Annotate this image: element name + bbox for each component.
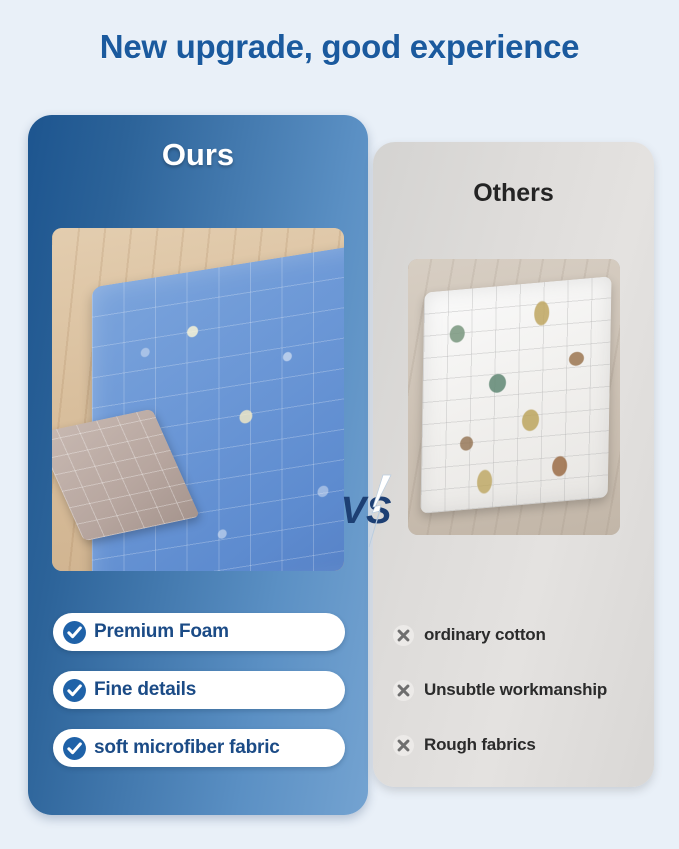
drawback-label: Unsubtle workmanship (424, 680, 607, 700)
drawback-item[interactable]: Rough fabrics (392, 730, 654, 760)
others-card: Others ordinary cotton (373, 142, 654, 787)
drawback-item[interactable]: ordinary cotton (392, 620, 654, 650)
feature-label: soft microfiber fabric (94, 737, 280, 759)
feature-pill[interactable]: Fine details (53, 671, 345, 709)
comparison-infographic: New upgrade, good experience Ours Premiu… (0, 0, 679, 849)
ours-title: Ours (28, 137, 368, 173)
x-circle-icon (392, 679, 415, 702)
feature-label: Fine details (94, 679, 196, 701)
drawback-item[interactable]: Unsubtle workmanship (392, 675, 654, 705)
page-title: New upgrade, good experience (0, 28, 679, 66)
ours-feature-list: Premium Foam Fine details soft microfibe… (53, 613, 345, 767)
check-circle-icon (62, 678, 87, 703)
white-quilted-mattress-pad (420, 276, 611, 514)
x-circle-icon (392, 734, 415, 757)
check-circle-icon (62, 736, 87, 761)
drawback-label: Rough fabrics (424, 735, 536, 755)
ours-product-photo (52, 228, 344, 571)
feature-label: Premium Foam (94, 621, 229, 643)
comparison-columns: Ours Premium Foam (0, 115, 679, 825)
others-drawback-list: ordinary cotton Unsubtle workmanship Rou… (392, 620, 654, 760)
feature-pill[interactable]: Premium Foam (53, 613, 345, 651)
x-circle-icon (392, 624, 415, 647)
check-circle-icon (62, 620, 87, 645)
others-title: Others (373, 179, 654, 208)
others-product-photo (408, 259, 620, 535)
ours-card: Ours Premium Foam (28, 115, 368, 815)
drawback-label: ordinary cotton (424, 625, 546, 645)
feature-pill[interactable]: soft microfiber fabric (53, 729, 345, 767)
